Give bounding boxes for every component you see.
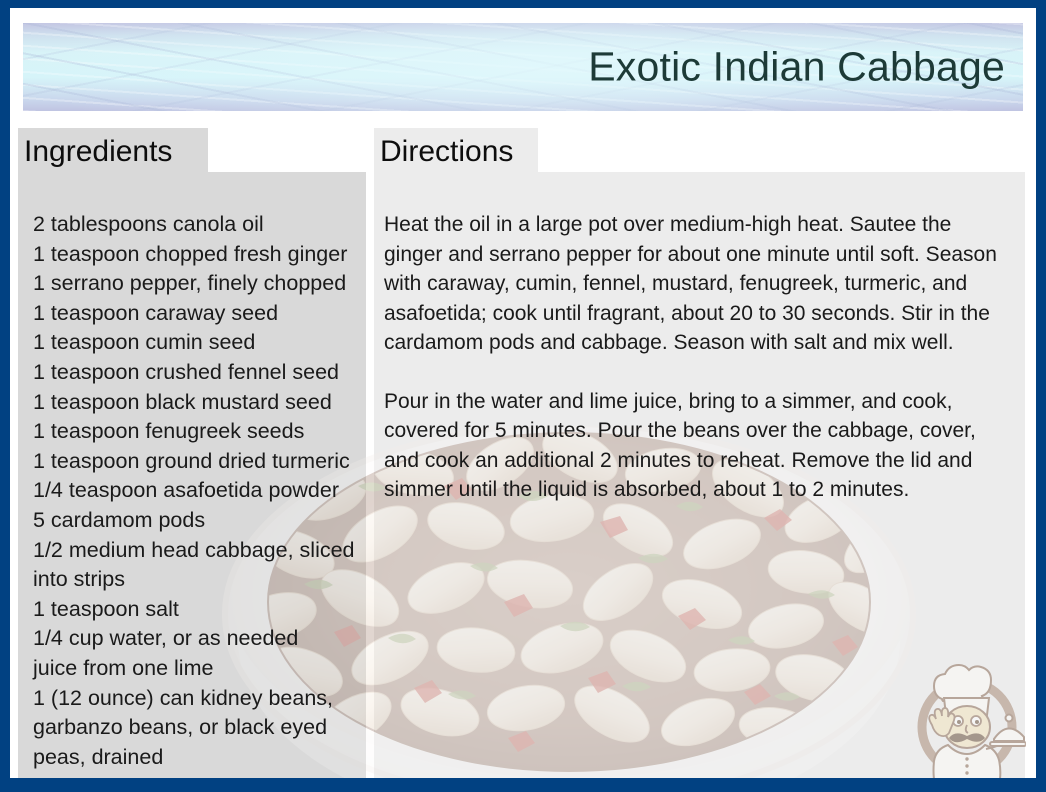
directions-paragraph: Heat the oil in a large pot over medium-…: [384, 210, 997, 358]
list-item: 1 teaspoon cumin seed: [33, 328, 360, 358]
directions-tab-label: Directions: [380, 137, 513, 167]
tab-directions[interactable]: Directions: [374, 128, 538, 172]
page-title: Exotic Indian Cabbage: [588, 47, 1005, 88]
list-item: juice from one lime: [33, 654, 360, 684]
ingredients-section: Ingredients 2 tablespoons canola oil 1 t…: [18, 128, 366, 778]
ingredient-list: 2 tablespoons canola oil 1 teaspoon chop…: [18, 172, 366, 772]
list-item: 1 serrano pepper, finely chopped: [33, 269, 360, 299]
list-item: 2 tablespoons canola oil: [33, 210, 360, 240]
header-banner: Exotic Indian Cabbage: [23, 23, 1023, 111]
list-item: 1 teaspoon caraway seed: [33, 299, 360, 329]
directions-text: Heat the oil in a large pot over medium-…: [374, 172, 1025, 505]
ingredients-tab-label: Ingredients: [24, 137, 172, 167]
recipe-card: Exotic Indian Cabbage: [0, 0, 1046, 792]
list-item: 1 teaspoon chopped fresh ginger: [33, 240, 360, 270]
list-item: 1 teaspoon fenugreek seeds: [33, 417, 360, 447]
list-item: 1 teaspoon black mustard seed: [33, 388, 360, 418]
recipe-page: Exotic Indian Cabbage: [10, 8, 1036, 778]
list-item: 1/4 teaspoon asafoetida powder: [33, 476, 360, 506]
list-item: 1 teaspoon crushed fennel seed: [33, 358, 360, 388]
list-item: 1/4 cup water, or as needed: [33, 624, 360, 654]
ingredients-panel: 2 tablespoons canola oil 1 teaspoon chop…: [18, 172, 366, 778]
list-item: 1 teaspoon ground dried turmeric: [33, 447, 360, 477]
chef-with-platter-logo: [908, 651, 1026, 778]
list-item: 5 cardamom pods: [33, 506, 360, 536]
directions-paragraph: Pour in the water and lime juice, bring …: [384, 387, 997, 505]
list-item: 1/2 medium head cabbage, sliced into str…: [33, 536, 360, 595]
tab-ingredients[interactable]: Ingredients: [18, 128, 208, 172]
list-item: 1 (12 ounce) can kidney beans, garbanzo …: [33, 684, 360, 773]
list-item: 1 teaspoon salt: [33, 595, 360, 625]
